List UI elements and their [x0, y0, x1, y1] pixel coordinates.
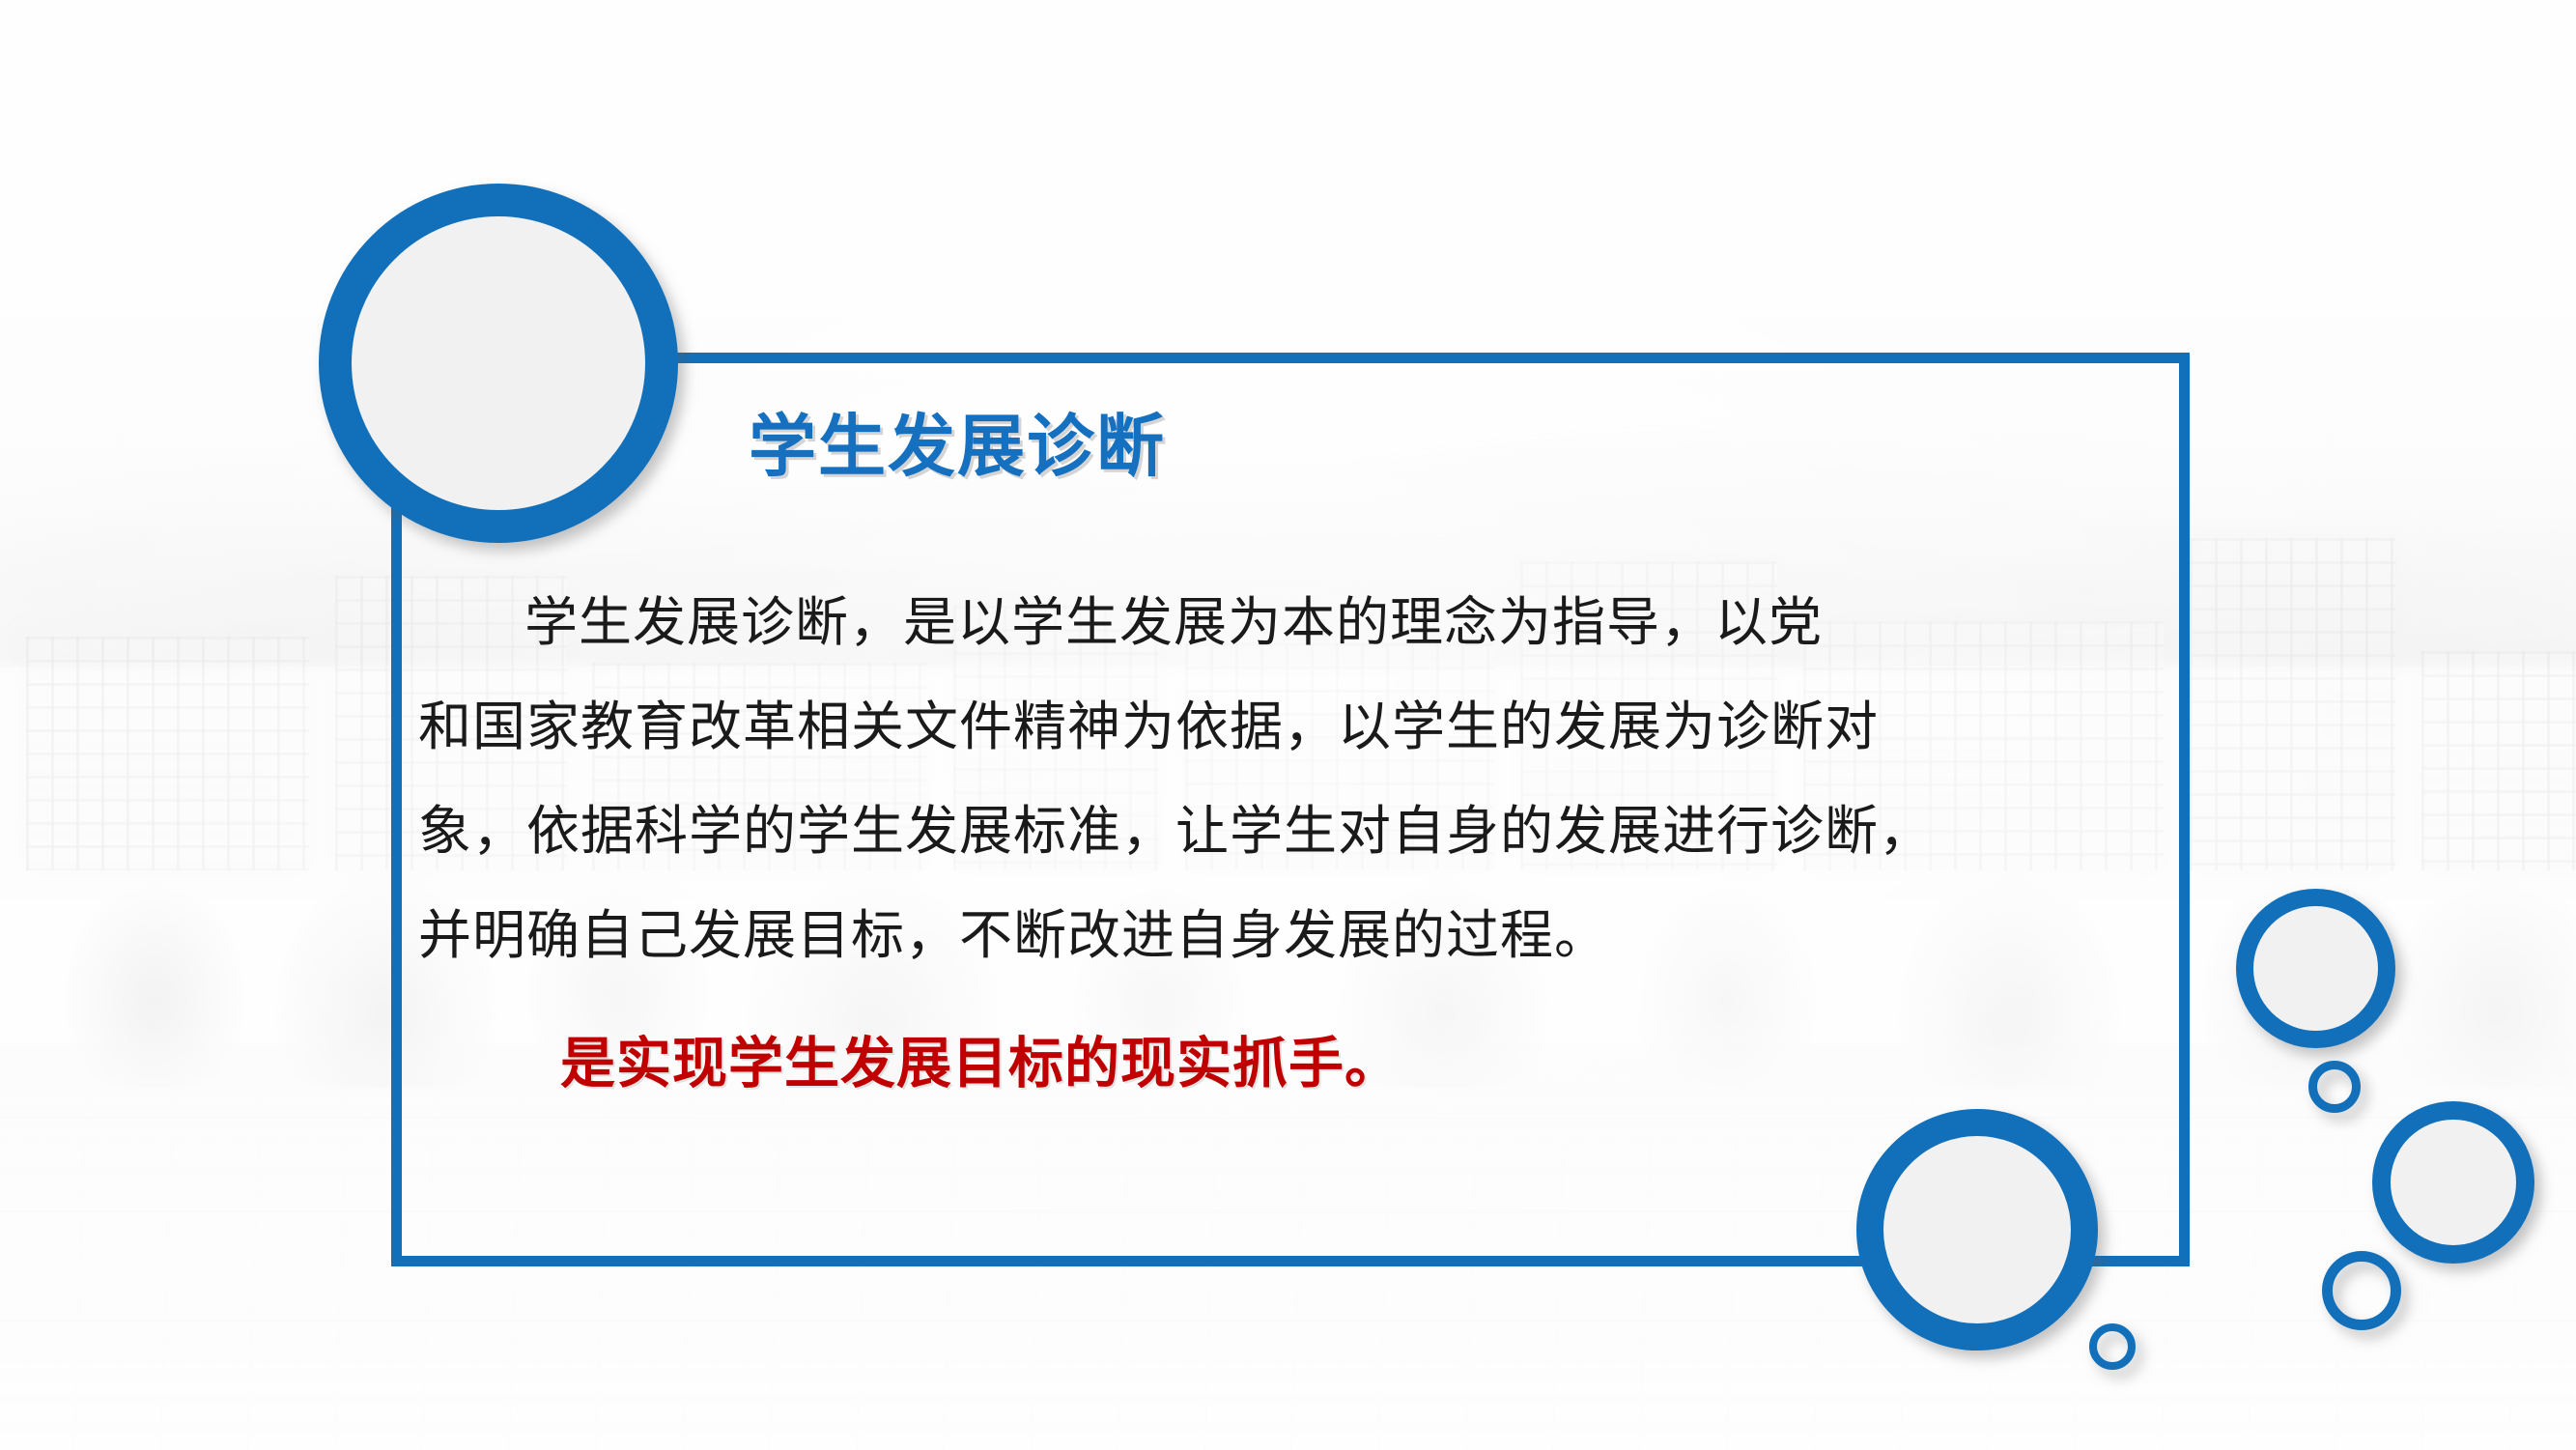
body-line: 和国家教育改革相关文件精神为依据，以学生的发展为诊断对 — [418, 674, 2157, 779]
decorative-ring-right-small-icon — [2308, 1061, 2361, 1113]
body-paragraph: 学生发展诊断，是以学生发展为本的理念为指导，以党 和国家教育改革相关文件精神为依… — [418, 570, 2157, 987]
page-title: 学生发展诊断 — [749, 412, 1166, 480]
slide-content: 学生发展诊断 学生发展诊断，是以学生发展为本的理念为指导，以党 和国家教育改革相… — [391, 353, 2190, 1266]
body-line: 学生发展诊断，是以学生发展为本的理念为指导，以党 — [418, 570, 2157, 674]
decorative-ring-bottom-tiny-icon — [2089, 1323, 2136, 1370]
decorative-ring-bottom-small-icon — [2322, 1251, 2401, 1330]
decorative-ring-right-upper-icon — [2236, 889, 2395, 1048]
slide-canvas: 学生发展诊断 学生发展诊断，是以学生发展为本的理念为指导，以党 和国家教育改革相… — [0, 0, 2576, 1450]
decorative-ring-right-lower-icon — [2372, 1101, 2534, 1264]
body-line: 象，依据科学的学生发展标准，让学生对自身的发展进行诊断， — [418, 779, 2157, 883]
body-line: 并明确自己发展目标，不断改进自身发展的过程。 — [418, 883, 2157, 987]
highlight-statement: 是实现学生发展目标的现实抓手。 — [560, 1019, 1401, 1098]
